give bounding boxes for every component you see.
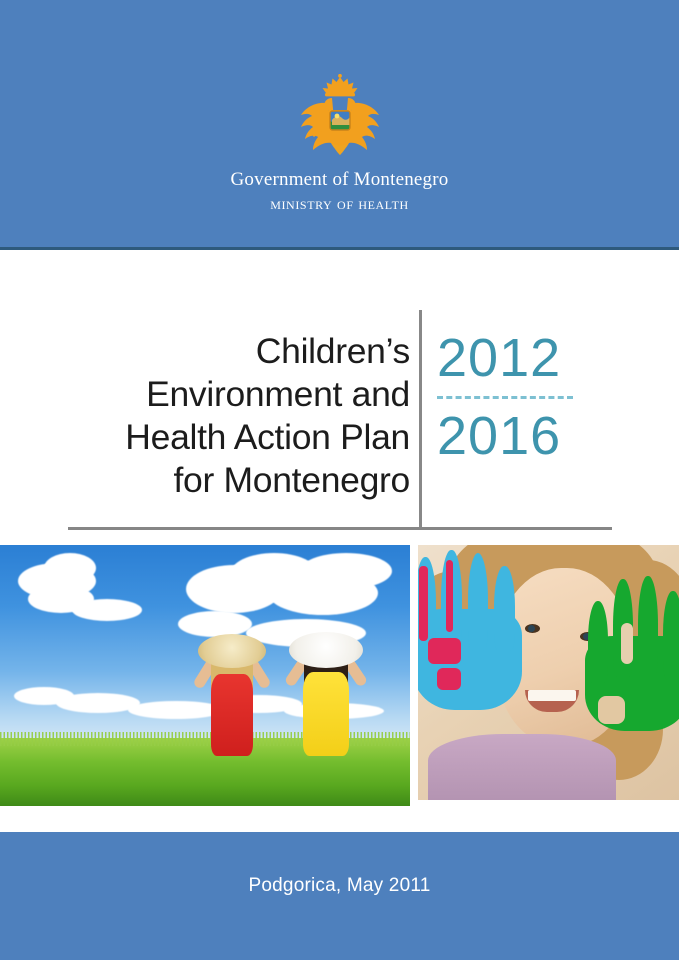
document-cover: Government of Montenegro Ministry of Hea… [0, 0, 679, 960]
hand-green-paint [585, 576, 679, 734]
place-and-date: Podgorica, May 2011 [0, 875, 679, 897]
girl-red-shirt [196, 634, 268, 756]
horizontal-rule [68, 527, 612, 530]
cloud [178, 611, 252, 637]
shirt [211, 674, 253, 756]
ministry-name: Ministry of Health [0, 192, 679, 215]
organization-name: Government of Montenegro [0, 168, 679, 192]
title-line-4: for Montenegro [80, 459, 410, 502]
paint-gap [621, 623, 634, 664]
eye-left [525, 624, 540, 633]
year-separator-dashed-rule [437, 396, 573, 399]
header-band: Government of Montenegro Ministry of Hea… [0, 0, 679, 250]
paint-streak [437, 668, 461, 691]
hand-blue-red-paint [418, 550, 522, 713]
coat-of-arms-container [0, 74, 679, 156]
shirt [303, 672, 349, 756]
sun-hat [289, 632, 363, 668]
period-block: 2012 2016 [437, 328, 617, 466]
title-line-2: Environment and [80, 373, 410, 416]
title-line-3: Health Action Plan [80, 416, 410, 459]
government-lines: Government of Montenegro Ministry of Hea… [0, 168, 679, 215]
cloud [44, 553, 96, 583]
finger [468, 553, 489, 651]
paint-gap [598, 696, 625, 724]
photo-girls-in-field [0, 545, 410, 806]
title-line-1: Children’s [80, 330, 410, 373]
cloud [300, 553, 392, 589]
vertical-rule [419, 310, 422, 530]
title-section: Children’s Environment and Health Action… [0, 250, 679, 545]
paint-streak [428, 638, 461, 664]
paint-streak [446, 560, 454, 632]
footer-band: Podgorica, May 2011 [0, 832, 679, 960]
finger [663, 591, 679, 680]
end-year: 2016 [437, 406, 617, 466]
girl-yellow-shirt [288, 632, 364, 756]
document-title: Children’s Environment and Health Action… [80, 330, 410, 502]
paint-streak [419, 566, 428, 641]
photo-strip [0, 545, 679, 806]
finger [494, 566, 515, 651]
sun-hat [198, 634, 266, 668]
lavender-shirt [428, 734, 616, 800]
cloud [72, 599, 142, 621]
start-year: 2012 [437, 328, 617, 388]
photo-child-painted-hands [418, 545, 679, 800]
finger [638, 576, 658, 677]
montenegro-coat-of-arms-icon [294, 74, 386, 156]
finger [588, 601, 608, 683]
